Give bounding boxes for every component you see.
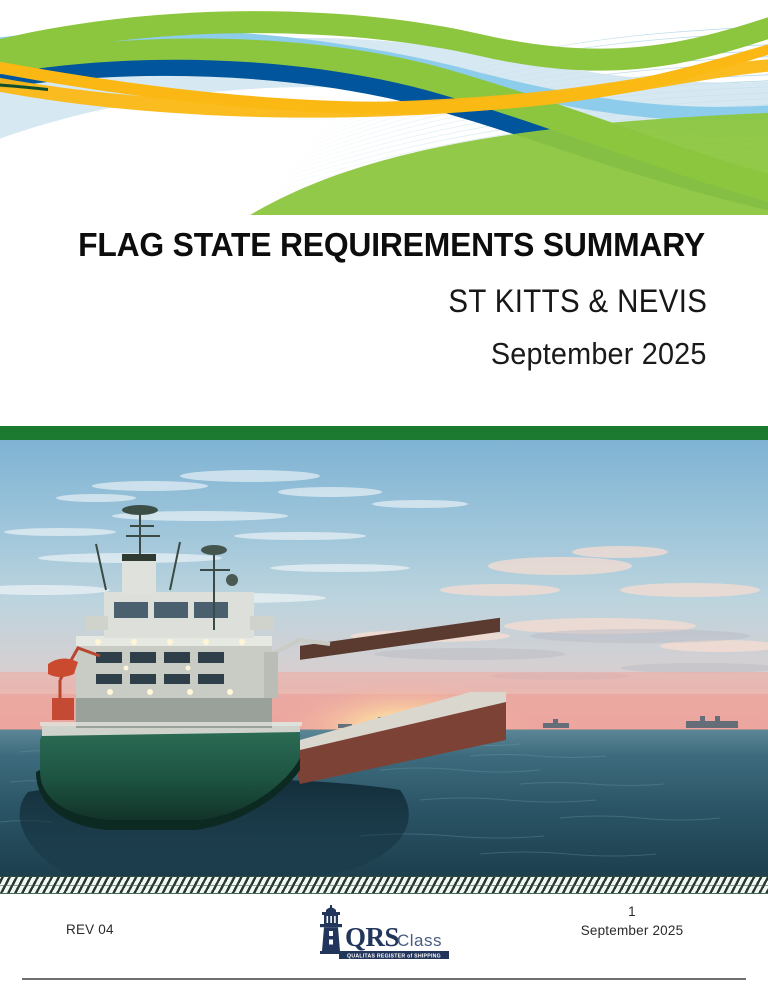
ship-crane-base — [52, 698, 74, 720]
bridge-wing-port — [86, 616, 108, 630]
hatch-midline — [0, 885, 768, 886]
page-number: 1 — [542, 902, 722, 921]
logo-qrs-text: QRS — [345, 922, 399, 952]
footer-horizontal-rule — [22, 978, 746, 980]
page-date: September 2025 — [54, 320, 768, 372]
bridge-wing-stbd — [250, 616, 274, 630]
page-subtitle: ST KITTS & NEVIS — [61, 268, 768, 320]
title-block: FLAG STATE REQUIREMENTS SUMMARY ST KITTS… — [0, 222, 768, 372]
footer-date: September 2025 — [542, 921, 722, 940]
logo-tagline-text: QUALITAS REGISTER of SHIPPING — [347, 953, 441, 959]
logo-class-text: Class — [397, 931, 442, 950]
ship-radar — [122, 505, 158, 515]
qrs-class-logo: QRS Class QUALITAS REGISTER of SHIPPING — [309, 904, 459, 960]
page-title: FLAG STATE REQUIREMENTS SUMMARY — [13, 222, 754, 268]
bridge-windows — [114, 602, 228, 618]
document-cover-page: FLAG STATE REQUIREMENTS SUMMARY ST KITTS… — [0, 0, 768, 994]
footer-revision: REV 04 — [66, 922, 114, 937]
ship-stern-rail — [40, 722, 302, 726]
lighthouse-icon — [320, 905, 343, 954]
diagonal-hatch-divider — [0, 876, 768, 894]
green-divider-bar — [0, 426, 768, 440]
cargo-ship-at-sunset-photo — [0, 440, 768, 876]
footer-right-block: 1 September 2025 — [542, 902, 722, 940]
page-footer: REV 04 — [0, 894, 768, 994]
ship-radar-mast — [201, 545, 227, 555]
decorative-wave-banner — [0, 0, 768, 215]
